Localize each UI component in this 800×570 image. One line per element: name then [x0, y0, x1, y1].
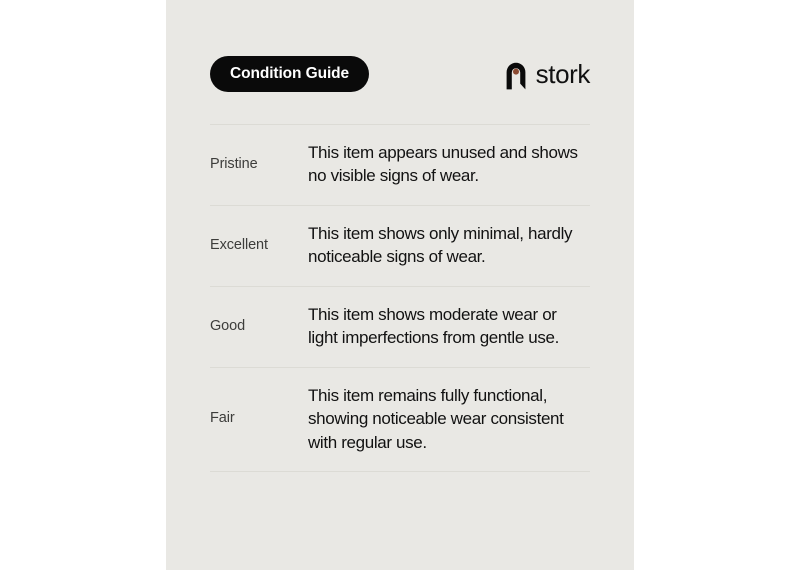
table-row: Excellent This item shows only minimal, … [210, 206, 590, 286]
condition-guide-table: Pristine This item appears unused and sh… [210, 124, 590, 472]
table-row: Fair This item remains fully functional,… [210, 368, 590, 471]
condition-term: Excellent [210, 237, 308, 254]
condition-description: This item appears unused and shows no vi… [308, 141, 590, 188]
row-divider [210, 471, 590, 472]
condition-guide-panel: Condition Guide stork Pristine This item… [166, 0, 634, 570]
condition-description: This item remains fully functional, show… [308, 384, 590, 454]
table-row: Good This item shows moderate wear or li… [210, 287, 590, 367]
stork-wordmark: stork [536, 61, 590, 87]
stork-arch-logo-icon [503, 59, 529, 90]
panel-header: Condition Guide stork [210, 56, 590, 92]
condition-term: Good [210, 318, 308, 335]
condition-description: This item shows moderate wear or light i… [308, 303, 590, 350]
condition-term: Pristine [210, 156, 308, 173]
table-row: Pristine This item appears unused and sh… [210, 125, 590, 205]
condition-term: Fair [210, 410, 308, 427]
condition-description: This item shows only minimal, hardly not… [308, 222, 590, 269]
condition-guide-badge[interactable]: Condition Guide [210, 56, 369, 92]
screenshot-canvas: Condition Guide stork Pristine This item… [0, 0, 800, 570]
stork-brand-logo[interactable]: stork [503, 59, 590, 90]
